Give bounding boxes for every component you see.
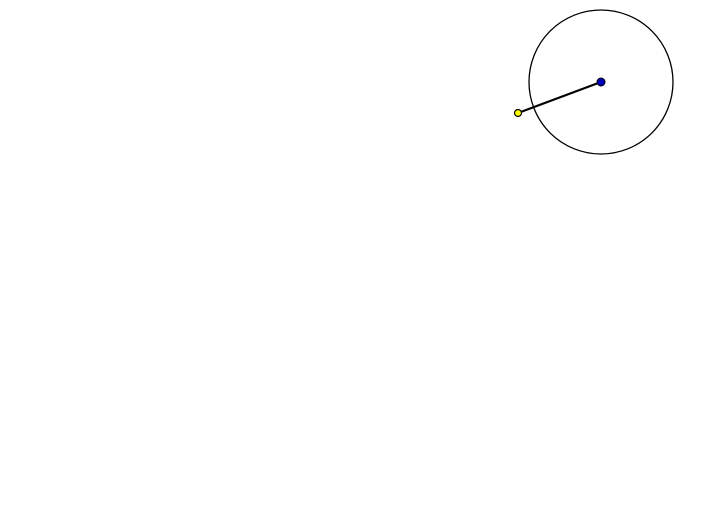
map-inset-panel [515,10,674,154]
figure-root [0,0,703,519]
seismic-figure [0,0,703,519]
remote-station-marker [515,110,522,117]
center-station-marker [597,78,605,86]
